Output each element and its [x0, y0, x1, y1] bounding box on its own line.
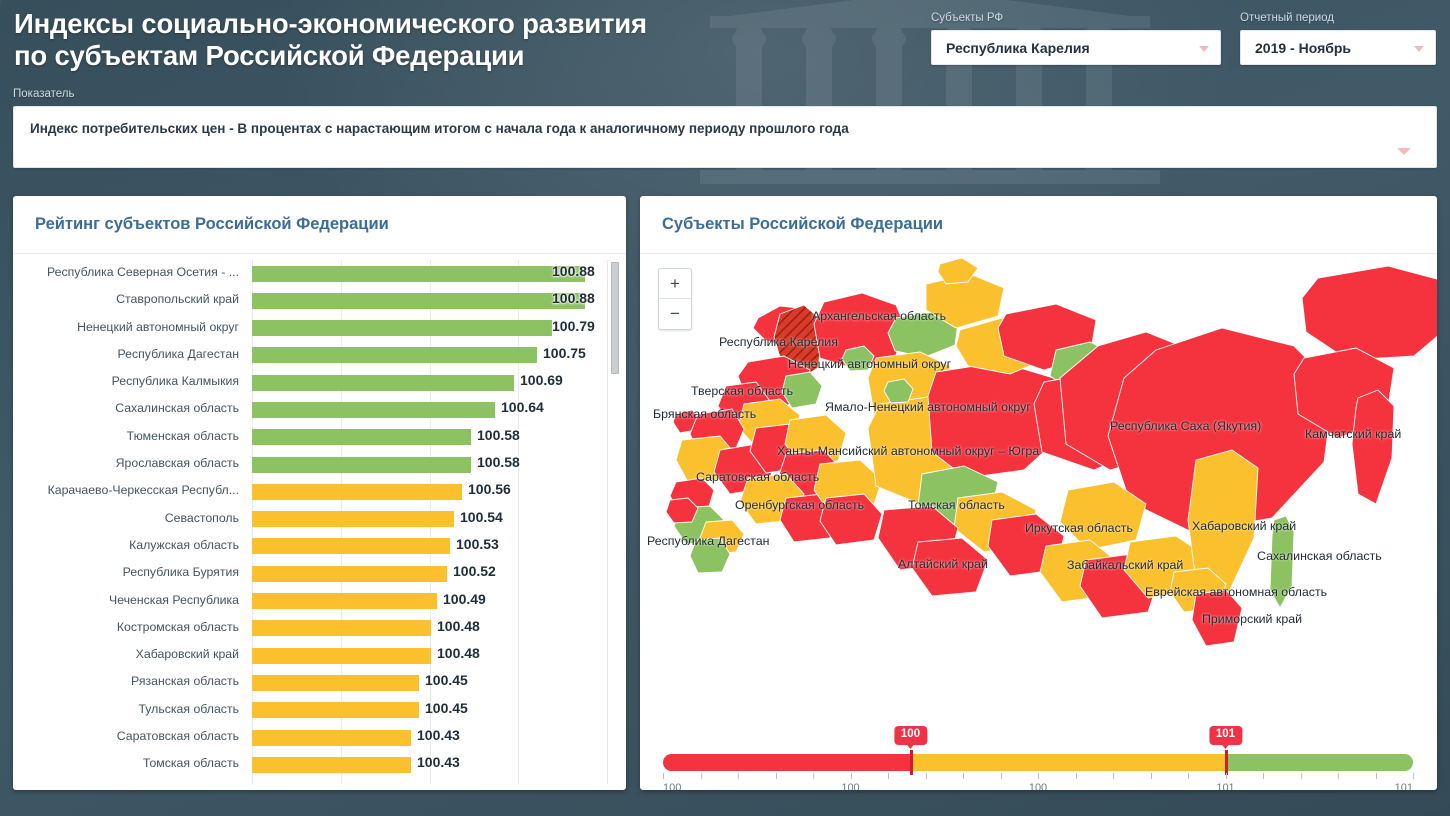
chart-bar-value: 100.88: [552, 290, 595, 306]
legend-tick-label: 100: [1029, 782, 1047, 790]
legend-handle-value[interactable]: 101: [1209, 726, 1242, 745]
chart-row[interactable]: Саратовская область100.43: [13, 724, 610, 751]
chart-bar-value: 100.79: [552, 318, 595, 334]
legend-handle[interactable]: [910, 750, 913, 775]
chart-bar-value: 100.45: [425, 700, 468, 716]
chart-bar-value: 100.54: [460, 509, 503, 525]
chart-bar[interactable]: [252, 730, 411, 746]
chart-row-label: Саратовская область: [13, 729, 239, 743]
chart-row[interactable]: Республика Дагестан100.75: [13, 342, 610, 369]
chevron-down-icon[interactable]: [1414, 46, 1424, 52]
chart-bar[interactable]: [252, 347, 537, 363]
map-legend-slider[interactable]: 100101 100100100101101: [663, 732, 1413, 787]
legend-tick-label: 101: [1395, 782, 1413, 790]
chart-row-label: Тульская область: [13, 702, 239, 716]
period-select[interactable]: 2019 - Ноябрь: [1240, 30, 1436, 65]
chart-bar-value: 100.48: [437, 645, 480, 661]
chart-bar-value: 100.45: [425, 672, 468, 688]
chart-row-label: Рязанская область: [13, 674, 239, 688]
chart-row[interactable]: Костромская область100.48: [13, 615, 610, 642]
chart-row-label: Севастополь: [13, 511, 239, 525]
subject-select[interactable]: Республика Карелия: [931, 30, 1221, 65]
chart-row[interactable]: Тюменская область100.58: [13, 424, 610, 451]
chart-bar[interactable]: [252, 320, 552, 336]
chart-bar[interactable]: [252, 375, 514, 391]
chart-bar-value: 100.64: [501, 399, 544, 415]
map-panel-header: Субъекты Российской Федерации: [640, 196, 1437, 254]
legend-handle[interactable]: [1225, 750, 1228, 775]
legend-tick-label: 100: [841, 782, 859, 790]
chart-bar[interactable]: [252, 566, 447, 582]
subject-filter: Субъекты РФ Республика Карелия: [931, 13, 1221, 65]
chart-bar[interactable]: [252, 702, 419, 718]
rating-bar-chart[interactable]: Республика Северная Осетия - ...100.88Ст…: [13, 254, 626, 790]
chart-bar[interactable]: [252, 266, 585, 282]
chart-row[interactable]: Чеченская Республика100.49: [13, 588, 610, 615]
chart-bar-value: 100.69: [520, 372, 563, 388]
chart-row-label: Сахалинская область: [13, 401, 239, 415]
legend-tick-label: 101: [1216, 782, 1234, 790]
rating-panel: Рейтинг субъектов Российской Федерации Р…: [13, 196, 626, 790]
page-title-line1: Индексы социально-экономического развити…: [14, 8, 774, 40]
period-value: 2019 - Ноябрь: [1255, 40, 1405, 56]
indicator-value: Индекс потребительских цен - В процентах…: [30, 121, 1376, 136]
chart-row[interactable]: Ненецкий автономный округ100.79: [13, 315, 610, 342]
rating-panel-title: Рейтинг субъектов Российской Федерации: [35, 215, 389, 234]
chart-row-label: Томская область: [13, 756, 239, 770]
chart-row-label: Костромская область: [13, 620, 239, 634]
map-panel-title: Субъекты Российской Федерации: [662, 215, 943, 234]
page-title: Индексы социально-экономического развити…: [14, 8, 774, 72]
page-title-line2: по субъектам Российской Федерации: [14, 40, 774, 72]
chart-bar-value: 100.52: [453, 563, 496, 579]
rating-panel-header: Рейтинг субъектов Российской Федерации: [13, 196, 626, 254]
chart-bar[interactable]: [252, 538, 450, 554]
chart-row[interactable]: Ставропольский край100.88: [13, 287, 610, 314]
period-filter: Отчетный период 2019 - Ноябрь: [1240, 13, 1436, 65]
legend-tick-label: 100: [663, 782, 681, 790]
chart-row-label: Ненецкий автономный округ: [13, 320, 239, 334]
chart-bar-value: 100.58: [477, 454, 520, 470]
chart-row[interactable]: Ярославская область100.58: [13, 451, 610, 478]
chevron-down-icon[interactable]: [1199, 46, 1209, 52]
chart-bar-value: 100.48: [437, 618, 480, 634]
chart-bar[interactable]: [252, 293, 585, 309]
chart-row[interactable]: Рязанская область100.45: [13, 669, 610, 696]
legend-track[interactable]: [663, 754, 1413, 771]
chart-rows: Республика Северная Осетия - ...100.88Ст…: [13, 260, 610, 779]
chart-bar[interactable]: [252, 484, 462, 500]
chart-row[interactable]: Калужская область100.53: [13, 533, 610, 560]
map-panel: Субъекты Российской Федерации + −: [640, 196, 1437, 790]
chart-row[interactable]: Сахалинская область100.64: [13, 396, 610, 423]
zoom-in-button[interactable]: +: [659, 269, 691, 299]
chart-bar[interactable]: [252, 593, 437, 609]
legend-segment: [663, 754, 911, 771]
chart-bar-value: 100.53: [456, 536, 499, 552]
rating-scrollbar-thumb[interactable]: [611, 262, 619, 374]
chart-bar-value: 100.58: [477, 427, 520, 443]
zoom-out-button[interactable]: −: [659, 299, 691, 329]
chart-bar[interactable]: [252, 620, 431, 636]
chart-row-label: Республика Калмыкия: [13, 374, 239, 388]
chart-row-label: Хабаровский край: [13, 647, 239, 661]
chart-row[interactable]: Севастополь100.54: [13, 506, 610, 533]
chart-bar[interactable]: [252, 648, 431, 664]
chart-row[interactable]: Республика Бурятия100.52: [13, 560, 610, 587]
legend-tick-labels: 100100100101101: [663, 782, 1413, 790]
subject-value: Республика Карелия: [946, 40, 1190, 56]
chart-bar[interactable]: [252, 757, 411, 773]
chart-bar-value: 100.43: [417, 727, 460, 743]
map-canvas: [640, 254, 1437, 724]
chart-row-label: Ставропольский край: [13, 292, 239, 306]
chart-row-label: Республика Бурятия: [13, 565, 239, 579]
chart-bar-value: 100.75: [543, 345, 586, 361]
period-label: Отчетный период: [1240, 13, 1436, 25]
chart-row[interactable]: Республика Калмыкия100.69: [13, 369, 610, 396]
subject-label: Субъекты РФ: [931, 13, 1221, 25]
chart-bar-value: 100.43: [417, 754, 460, 770]
chart-bar[interactable]: [252, 402, 495, 418]
chart-bar-value: 100.56: [468, 481, 511, 497]
chart-row-label: Калужская область: [13, 538, 239, 552]
dashboard-header: Индексы социально-экономического развити…: [0, 0, 1450, 188]
chart-bar[interactable]: [252, 457, 471, 473]
chart-row-label: Республика Дагестан: [13, 347, 239, 361]
chevron-down-icon[interactable]: [1397, 148, 1411, 155]
chart-row-label: Тюменская область: [13, 429, 239, 443]
chart-row[interactable]: Тульская область100.45: [13, 697, 610, 724]
legend-segment: [911, 754, 1226, 771]
legend-segment: [1226, 754, 1414, 771]
map-zoom-controls[interactable]: + −: [658, 268, 692, 330]
chart-row[interactable]: Томская область100.43: [13, 751, 610, 778]
chart-row-label: Карачаево-Черкесская Республ...: [13, 483, 239, 497]
chart-row-label: Чеченская Республика: [13, 593, 239, 607]
chart-bar-value: 100.88: [552, 263, 595, 279]
legend-handle-value[interactable]: 100: [894, 726, 927, 745]
chart-row-label: Республика Северная Осетия - ...: [13, 265, 239, 279]
chart-bar[interactable]: [252, 675, 419, 691]
indicator-select[interactable]: Индекс потребительских цен - В процентах…: [13, 106, 1437, 168]
chart-row-label: Ярославская область: [13, 456, 239, 470]
chart-bar[interactable]: [252, 511, 454, 527]
chart-row[interactable]: Республика Северная Осетия - ...100.88: [13, 260, 610, 287]
chart-row[interactable]: Хабаровский край100.48: [13, 642, 610, 669]
chart-bar-value: 100.49: [443, 591, 486, 607]
rating-scrollbar[interactable]: [611, 262, 619, 782]
indicator-label: Показатель: [13, 89, 1437, 101]
indicator-filter: Показатель Индекс потребительских цен - …: [13, 89, 1437, 168]
russia-choropleth-map[interactable]: + −: [640, 254, 1437, 790]
chart-bar[interactable]: [252, 429, 471, 445]
chart-row[interactable]: Карачаево-Черкесская Республ...100.56: [13, 478, 610, 505]
legend-ticks: [663, 773, 1413, 781]
